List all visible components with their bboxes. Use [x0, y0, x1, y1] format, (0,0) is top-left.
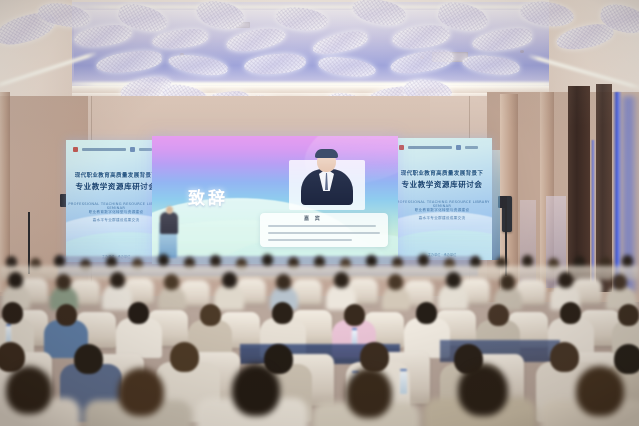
speaker-bio-card: 嘉 宾 [260, 213, 388, 247]
banner-right-logo-row [399, 144, 485, 150]
main-led-screen: 致辞 嘉 宾 [152, 136, 398, 264]
audience [0, 248, 639, 426]
presenter-body [160, 212, 178, 234]
banner-right-line2: 专业教学资源库研讨会 [392, 179, 492, 190]
banner-left: 现代职业教育高质量发展背景下 专业教学资源库研讨会 PROFESSIONAL T… [66, 140, 166, 262]
banner-left-line1: 现代职业教育高质量发展背景下 [66, 171, 166, 179]
banner-left-subline2: 职业教育数字化转型与资源建设 [66, 210, 166, 215]
banner-right-subline3: 高水平专业群建设成果交流 [392, 216, 492, 221]
speaker-name: 嘉 宾 [304, 215, 322, 222]
banner-right-logo-text [408, 146, 452, 149]
banner-left-logo-mark [73, 147, 78, 152]
presenter-head [166, 206, 173, 214]
banner-left-badge-mark [130, 147, 135, 152]
banner-right-badge-mark [456, 145, 461, 150]
banner-left-logo-text [82, 148, 126, 151]
banner-right-subtitle-en: PROFESSIONAL TEACHING RESOURCE LIBRARY S… [392, 200, 492, 208]
portrait-hair [315, 149, 338, 158]
banner-left-badge-text [139, 148, 152, 151]
side-led-right [492, 150, 500, 260]
conference-hall-photo: 现代职业教育高质量发展背景下 专业教学资源库研讨会 PROFESSIONAL T… [0, 0, 639, 426]
banner-right-badge-text [465, 146, 478, 149]
banner-left-subline3: 高水平专业群建设成果交流 [66, 218, 166, 223]
banner-right-line1: 现代职业教育高质量发展背景下 [392, 169, 492, 177]
banner-right: 现代职业教育高质量发展背景下 专业教学资源库研讨会 PROFESSIONAL T… [392, 138, 492, 260]
banner-right-logo-mark [399, 145, 404, 150]
screen-headline: 致辞 [188, 184, 228, 209]
banner-right-subline2: 职业教育数字化转型与资源建设 [392, 208, 492, 213]
ceiling-downlight-4 [520, 50, 524, 53]
banner-left-logo-row [73, 146, 159, 152]
speaker-portrait [281, 148, 373, 216]
banner-left-subtitle-en: PROFESSIONAL TEACHING RESOURCE LIBRARY S… [66, 202, 166, 210]
banner-left-line2: 专业教学资源库研讨会 [66, 181, 166, 192]
